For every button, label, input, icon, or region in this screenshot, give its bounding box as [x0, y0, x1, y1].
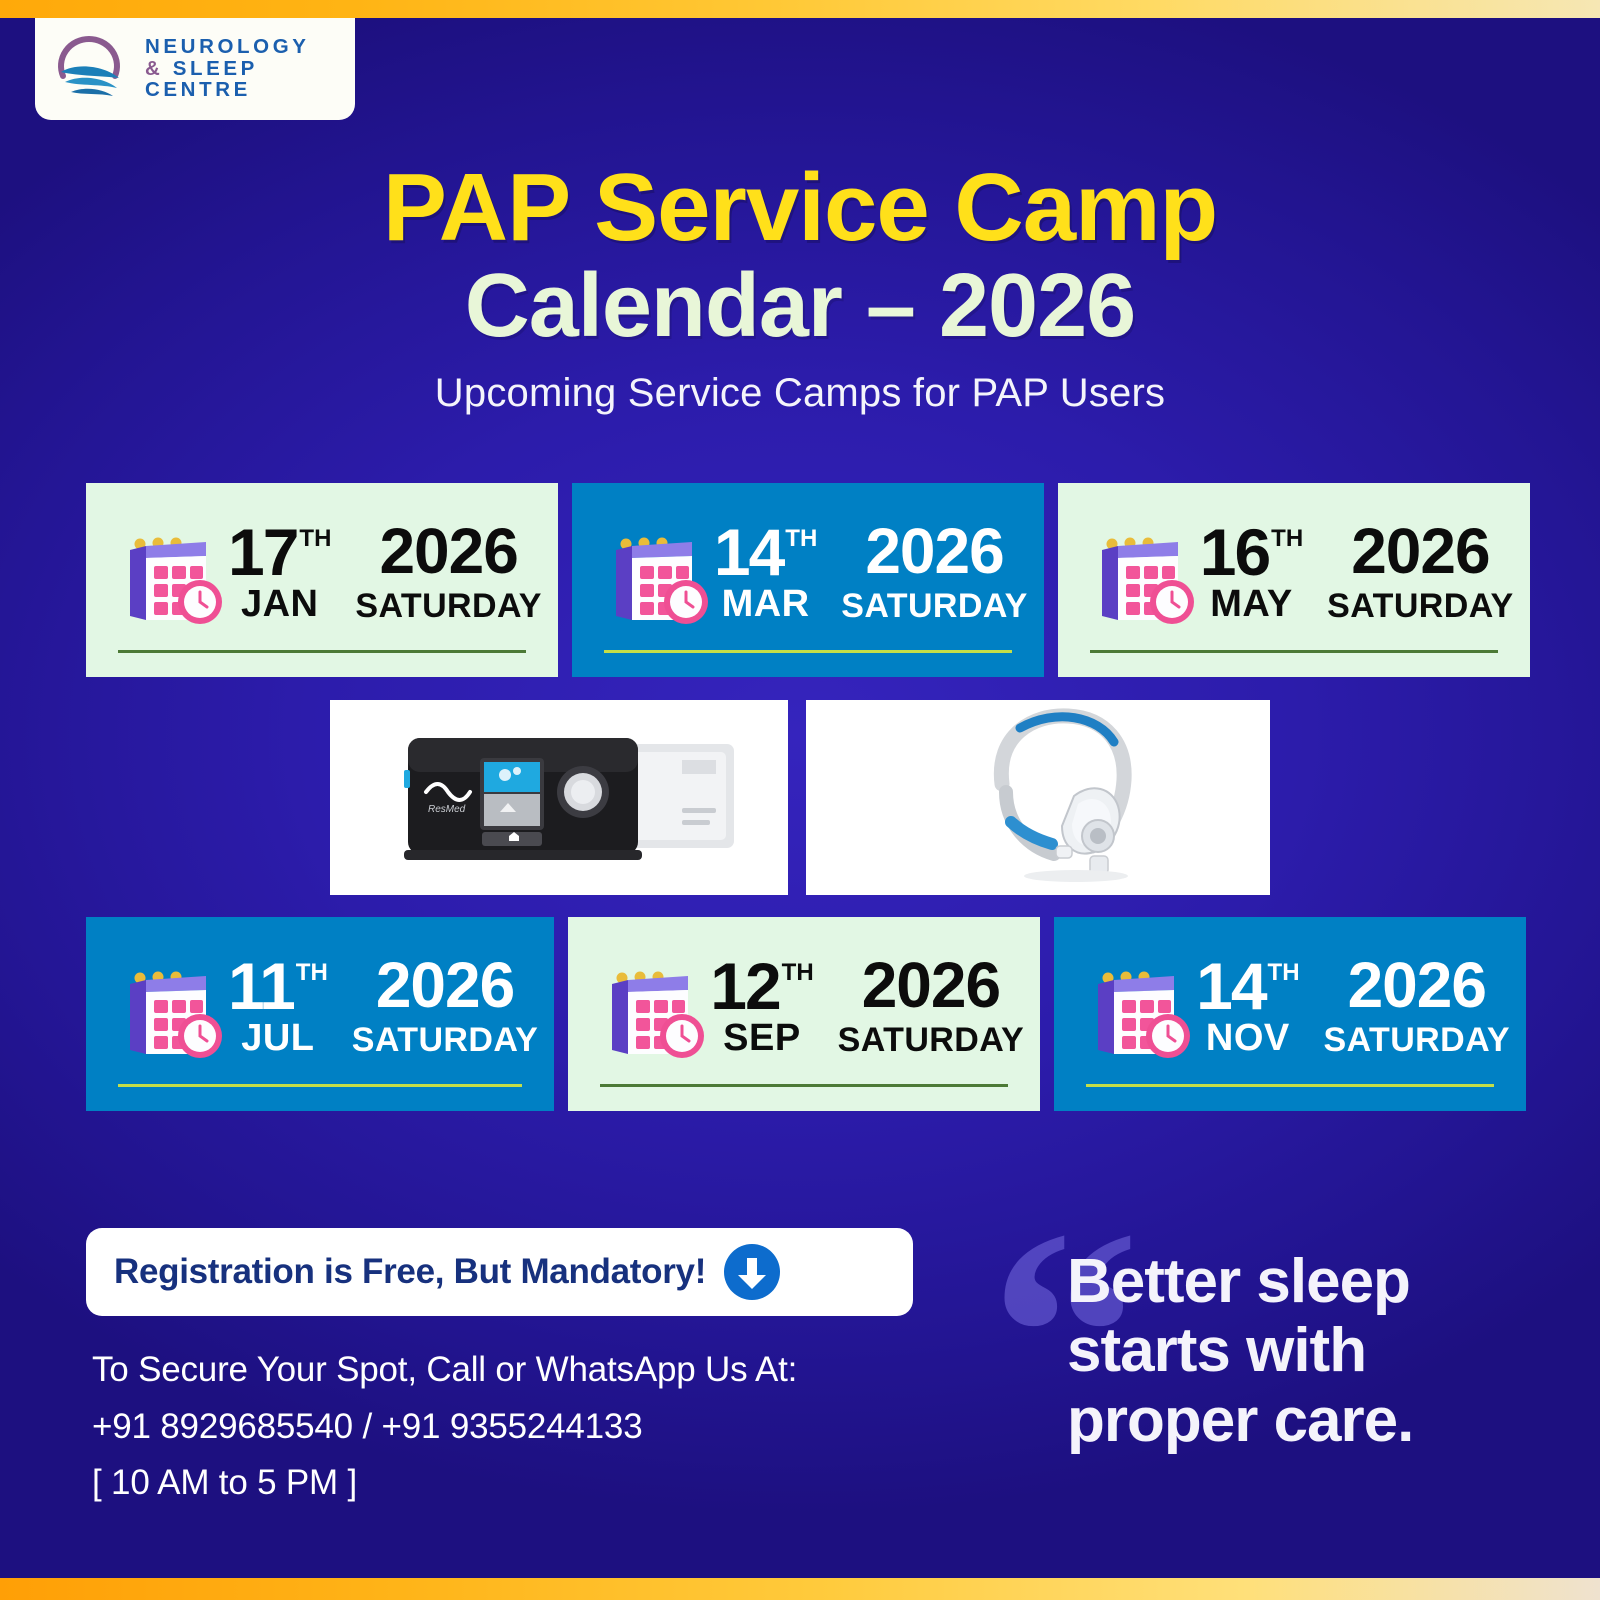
calendar-clock-icon	[596, 528, 712, 632]
camp-day-suffix: TH	[296, 962, 328, 984]
camp-date: 17 TH JAN 2026 SATURDAY	[228, 521, 542, 622]
top-accent-bar	[0, 0, 1600, 18]
heading-subtitle: Upcoming Service Camps for PAP Users	[0, 371, 1600, 416]
camp-weekday: SATURDAY	[1327, 590, 1513, 622]
brand-logo-card: NEUROLOGY & SLEEP CENTRE	[35, 18, 355, 120]
camp-weekday: SATURDAY	[1324, 1024, 1510, 1056]
camp-year-group: 2026 SATURDAY	[352, 955, 538, 1056]
camp-row-top: 17 TH JAN 2026 SATURDAY	[86, 483, 1514, 677]
camp-date: 16 TH MAY 2026 SATURDAY	[1200, 521, 1514, 622]
camp-day-group: 14 TH MAR	[714, 522, 817, 622]
camp-day-group: 16 TH MAY	[1200, 522, 1303, 622]
logo-line-sleep: & SLEEP	[145, 59, 310, 80]
quote-text: Better sleep starts with proper care.	[995, 1215, 1535, 1455]
arrow-down-circle-icon[interactable]	[724, 1244, 780, 1300]
camp-card-underline	[600, 1084, 1008, 1087]
camp-card[interactable]: 14 TH MAR 2026 SATURDAY	[572, 483, 1044, 677]
camp-date: 14 TH MAR 2026 SATURDAY	[714, 521, 1028, 622]
camp-weekday: SATURDAY	[355, 590, 541, 622]
camp-date: 14 TH NOV 2026 SATURDAY	[1196, 955, 1510, 1056]
camp-day-suffix: TH	[1271, 528, 1303, 550]
camp-year-group: 2026 SATURDAY	[838, 955, 1024, 1056]
contact-hours: [ 10 AM to 5 PM ]	[92, 1455, 972, 1512]
camp-year-group: 2026 SATURDAY	[841, 521, 1027, 622]
poster-canvas: NEUROLOGY & SLEEP CENTRE PAP Service Cam…	[0, 0, 1600, 1600]
camp-day-row: 12 TH	[710, 956, 813, 1017]
camp-weekday: SATURDAY	[352, 1024, 538, 1056]
calendar-clock-icon	[592, 962, 708, 1066]
brand-logo-text: NEUROLOGY & SLEEP CENTRE	[145, 37, 310, 101]
logo-line-neurology: NEUROLOGY	[145, 37, 310, 58]
camp-day-row: 14 TH	[1196, 956, 1299, 1017]
camp-day-row: 16 TH	[1200, 522, 1303, 583]
poster-heading: PAP Service Camp Calendar – 2026 Upcomin…	[0, 160, 1600, 416]
camp-year-group: 2026 SATURDAY	[1324, 955, 1510, 1056]
heading-line-1: PAP Service Camp	[0, 160, 1600, 256]
camp-day-number: 14	[1196, 956, 1265, 1017]
camp-day-number: 14	[714, 522, 783, 583]
camp-day-number: 11	[228, 956, 294, 1017]
camp-month: MAR	[722, 587, 810, 622]
camp-day-group: 14 TH NOV	[1196, 956, 1299, 1056]
camp-day-number: 12	[710, 956, 779, 1017]
camp-card-underline	[118, 650, 526, 653]
camp-card-underline	[604, 650, 1012, 653]
camp-day-row: 11 TH	[228, 956, 328, 1017]
camp-day-row: 14 TH	[714, 522, 817, 583]
registration-label: Registration is Free, But Mandatory!	[114, 1252, 706, 1292]
registration-banner[interactable]: Registration is Free, But Mandatory!	[86, 1228, 913, 1316]
calendar-clock-icon	[1082, 528, 1198, 632]
camp-month: JAN	[241, 587, 319, 622]
product-photo-strip: ResMed	[330, 700, 1270, 895]
camp-day-number: 16	[1200, 522, 1269, 583]
camp-year: 2026	[865, 521, 1003, 582]
camp-year: 2026	[376, 955, 514, 1016]
calendar-clock-icon	[110, 962, 226, 1066]
bottom-accent-bar	[0, 1578, 1600, 1600]
camp-card-underline	[1086, 1084, 1494, 1087]
camp-day-suffix: TH	[299, 528, 331, 550]
camp-year: 2026	[862, 955, 1000, 1016]
camp-year: 2026	[1351, 521, 1489, 582]
contact-phone-numbers[interactable]: +91 8929685540 / +91 9355244133	[92, 1399, 972, 1456]
camp-weekday: SATURDAY	[841, 590, 1027, 622]
camp-month: JUL	[241, 1021, 314, 1056]
camp-day-suffix: TH	[1268, 962, 1300, 984]
cpap-machine-photo: ResMed	[330, 700, 788, 895]
calendar-clock-icon	[1078, 962, 1194, 1066]
camp-card-underline	[118, 1084, 522, 1087]
camp-year: 2026	[1348, 955, 1486, 1016]
camp-card[interactable]: 16 TH MAY 2026 SATURDAY	[1058, 483, 1530, 677]
camp-year: 2026	[379, 521, 517, 582]
logo-line-centre: CENTRE	[145, 80, 310, 101]
camp-year-group: 2026 SATURDAY	[1327, 521, 1513, 622]
camp-day-row: 17 TH	[228, 522, 331, 583]
cpap-mask-photo	[806, 700, 1270, 895]
camp-day-number: 17	[228, 522, 297, 583]
contact-prompt: To Secure Your Spot, Call or WhatsApp Us…	[92, 1342, 972, 1399]
camp-date: 11 TH JUL 2026 SATURDAY	[228, 955, 538, 1056]
contact-block: To Secure Your Spot, Call or WhatsApp Us…	[92, 1342, 972, 1512]
calendar-clock-icon	[110, 528, 226, 632]
quote-block: “ Better sleep starts with proper care.	[995, 1215, 1535, 1515]
camp-day-group: 11 TH JUL	[228, 956, 328, 1056]
camp-date: 12 TH SEP 2026 SATURDAY	[710, 955, 1024, 1056]
camp-month: SEP	[723, 1021, 801, 1056]
camp-card-underline	[1090, 650, 1498, 653]
camp-day-group: 17 TH JAN	[228, 522, 331, 622]
logo-word-sleep: SLEEP	[173, 57, 258, 80]
camp-day-suffix: TH	[782, 962, 814, 984]
camp-month: MAY	[1210, 587, 1292, 622]
camp-card[interactable]: 14 TH NOV 2026 SATURDAY	[1054, 917, 1526, 1111]
logo-ampersand: &	[145, 57, 163, 80]
heading-line-2: Calendar – 2026	[0, 256, 1600, 357]
camp-weekday: SATURDAY	[838, 1024, 1024, 1056]
camp-month: NOV	[1206, 1021, 1290, 1056]
arc-waves-logo-icon	[53, 32, 131, 106]
camp-day-group: 12 TH SEP	[710, 956, 813, 1056]
camp-year-group: 2026 SATURDAY	[355, 521, 541, 622]
camp-card[interactable]: 11 TH JUL 2026 SATURDAY	[86, 917, 554, 1111]
camp-row-bottom: 11 TH JUL 2026 SATURDAY	[86, 917, 1514, 1111]
svg-text:ResMed: ResMed	[428, 804, 466, 815]
camp-card[interactable]: 12 TH SEP 2026 SATURDAY	[568, 917, 1040, 1111]
camp-day-suffix: TH	[785, 528, 817, 550]
camp-card[interactable]: 17 TH JAN 2026 SATURDAY	[86, 483, 558, 677]
